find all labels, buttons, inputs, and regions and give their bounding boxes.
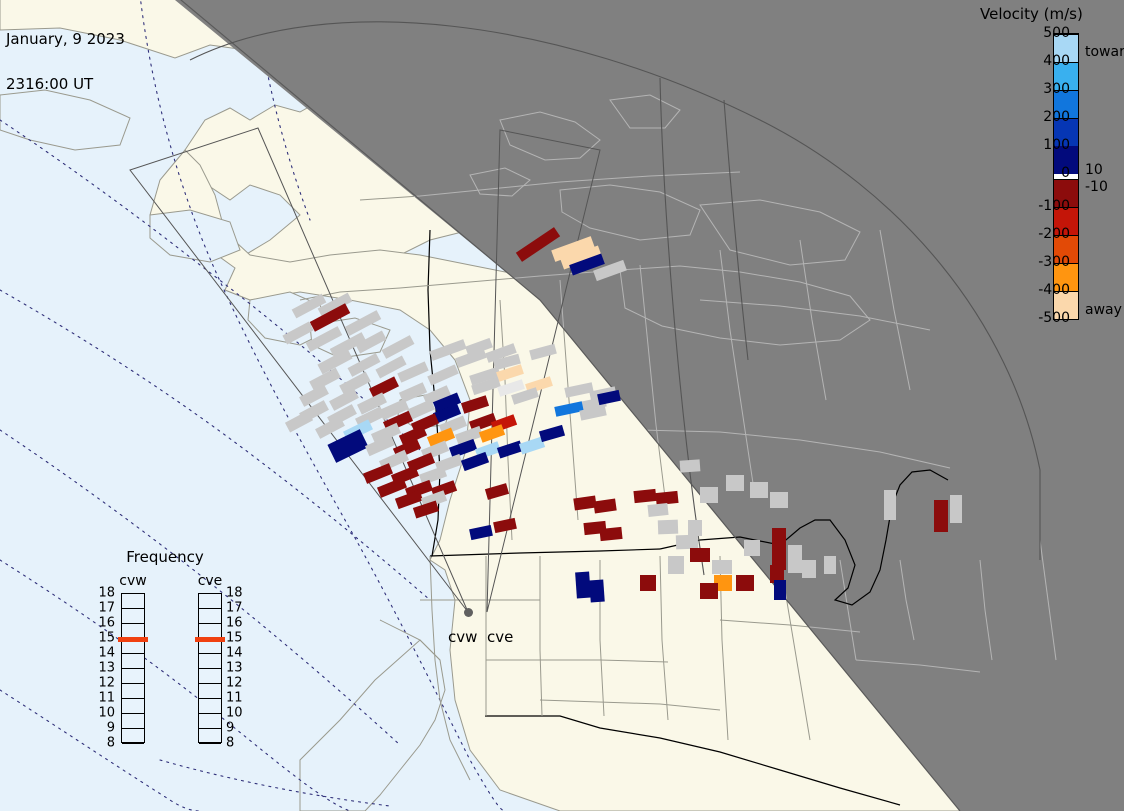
frequency-tick: 8 [93,736,115,751]
scatter-cell [633,489,656,503]
frequency-cell [199,594,221,609]
site-label-cvw: cvw [448,628,477,646]
frequency-tick: 14 [93,646,115,661]
scatter-cell [658,520,678,535]
scatter-cell [575,572,591,599]
frequency-cell [122,729,144,744]
frequency-cell [199,609,221,624]
frequency-cell [122,609,144,624]
frequency-marker [195,637,225,642]
site-label-cve: cve [487,628,513,646]
scatter-cell [529,344,557,360]
frequency-tick: 10 [93,706,115,721]
colorbar-tick: -500 [1014,310,1070,326]
frequency-tick: 8 [226,736,248,751]
scatter-cell [950,495,962,523]
title-time: 2316:00 UT [6,77,125,92]
scatter-cell [593,499,616,514]
colorbar-tick: -100 [1014,198,1070,214]
frequency-title: Frequency [85,548,245,566]
scatter-cell [493,518,517,533]
scatter-cell [688,520,702,536]
radar-site-marker [464,608,473,617]
scatter-cell [712,560,732,574]
scatter-cell [413,501,439,519]
velocity-colorbar-panel: Velocity (m/s) 5004003002001000-100-200-… [975,0,1124,330]
frequency-cell [122,594,144,609]
colorbar-tick: -200 [1014,226,1070,242]
scatter-cell [363,463,393,484]
scatter-cell [736,575,754,591]
frequency-tick: 16 [226,616,248,631]
frequency-tick: 15 [226,631,248,646]
frequency-cell [199,699,221,714]
frequency-cell [199,684,221,699]
frequency-tick: 11 [226,691,248,706]
scatter-cell [485,483,509,500]
scatter-cell [345,310,381,336]
frequency-tick: 11 [93,691,115,706]
frequency-cell [122,654,144,669]
frequency-tick: 9 [226,721,248,736]
scatter-cell [427,364,458,385]
scatter-cell [750,482,768,498]
frequency-tick: 12 [93,676,115,691]
scatter-cell [726,475,744,491]
frequency-tick: 13 [93,661,115,676]
frequency-cell [199,669,221,684]
scatter-cell [744,540,760,556]
frequency-cell [122,714,144,729]
scatter-cell [599,527,622,541]
scatter-cell [589,580,605,603]
frequency-tick: 17 [93,601,115,616]
timestamp-title: January, 9 2023 2316:00 UT [6,2,125,122]
scatter-cell [680,459,701,472]
scatter-cell [647,503,668,517]
scatter-cell [461,395,489,413]
scatter-cell [668,556,684,574]
colorbar-tick: 300 [1014,81,1070,97]
frequency-tick: 14 [226,646,248,661]
colorbar-label-toward: toward [1085,44,1124,60]
colorbar-tick: 200 [1014,109,1070,125]
scatter-cell [285,411,313,433]
title-date: January, 9 2023 [6,32,125,47]
frequency-cell [199,654,221,669]
scatter-cell [690,548,710,562]
frequency-cell [199,714,221,729]
colorbar-label-neg-threshold: -10 [1085,179,1108,195]
colorbar-tick: 400 [1014,53,1070,69]
frequency-tick: 17 [226,601,248,616]
scatter-cell [461,452,489,471]
scatter-cell [934,500,948,532]
frequency-tick: 15 [93,631,115,646]
frequency-marker [118,637,148,642]
frequency-bar [121,593,145,743]
scatter-cell [884,490,896,520]
colorbar-tick: -300 [1014,254,1070,270]
frequency-tick: 13 [226,661,248,676]
frequency-tick: 16 [93,616,115,631]
scatter-cell [700,583,718,599]
frequency-legend: Frequency cvw18171615141312111098cve1817… [85,548,245,788]
colorbar-label-away: away [1085,302,1122,318]
frequency-cell [199,729,221,744]
scatter-cell [700,487,718,503]
scatter-cell [824,556,836,574]
frequency-cell [122,669,144,684]
scatter-cell [770,492,788,508]
colorbar-label-pos-threshold: 10 [1085,162,1103,178]
scatter-cell [469,525,493,540]
frequency-cell [122,699,144,714]
scatter-cell [774,580,786,600]
radar-velocity-map: cvw cve January, 9 2023 2316:00 UT Veloc… [0,0,1124,811]
scatter-cell [640,575,656,591]
scatter-cell [788,545,802,573]
frequency-tick: 12 [226,676,248,691]
scatter-cell [327,429,368,463]
frequency-cell [122,684,144,699]
colorbar-tick: 0 [1014,165,1070,181]
frequency-tick: 10 [226,706,248,721]
frequency-bar [198,593,222,743]
frequency-tick: 9 [93,721,115,736]
colorbar-tick: 100 [1014,137,1070,153]
scatter-cell [802,560,816,578]
colorbar-title: Velocity (m/s) [980,5,1124,23]
scatter-cell [539,425,565,442]
colorbar-tick: 500 [1014,25,1070,41]
frequency-tick: 18 [93,586,115,601]
frequency-tick: 18 [226,586,248,601]
colorbar-tick: -400 [1014,282,1070,298]
scatter-cell [772,528,786,570]
